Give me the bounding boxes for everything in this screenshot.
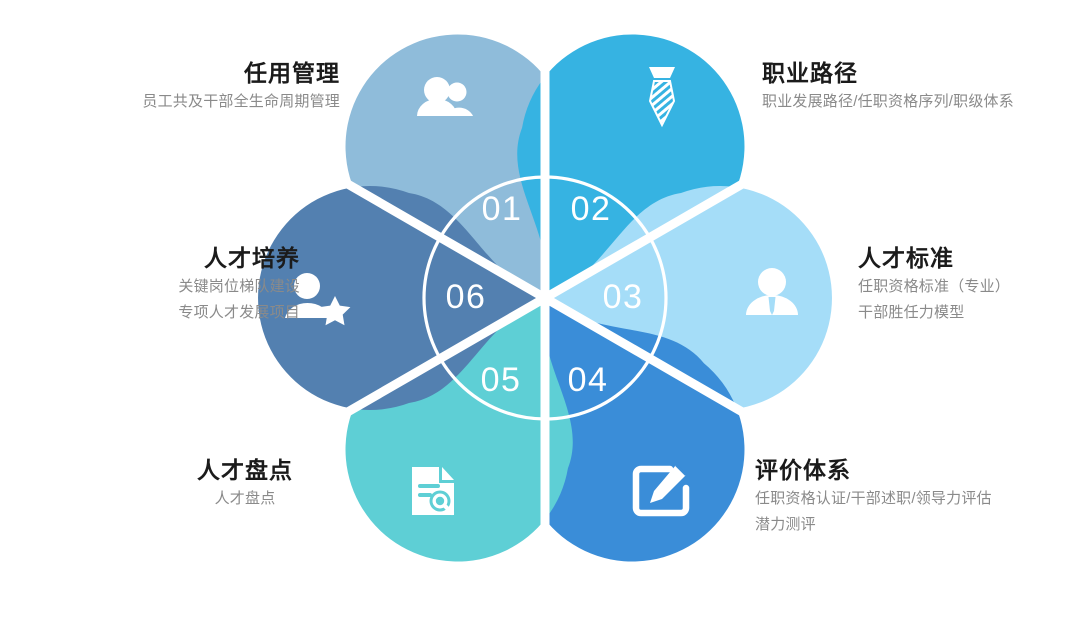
- label-block-06: 人才培养 关键岗位梯队建设 专项人才发展项目: [40, 243, 300, 327]
- label-sub-03-line2: 干部胜任力模型: [858, 300, 1078, 326]
- petal-number-04: 04: [568, 361, 609, 399]
- label-title-04: 评价体系: [755, 455, 1075, 486]
- label-sub-06-line1: 关键岗位梯队建设: [40, 274, 300, 300]
- label-block-01: 任用管理 员工共及干部全生命周期管理: [40, 58, 340, 115]
- label-sub-04-line1: 任职资格认证/干部述职/领导力评估: [755, 486, 1075, 512]
- label-block-04: 评价体系 任职资格认证/干部述职/领导力评估 潜力测评: [755, 455, 1075, 539]
- petal-number-02: 02: [571, 190, 612, 228]
- petal-number-03: 03: [603, 278, 644, 316]
- label-title-01: 任用管理: [40, 58, 340, 89]
- label-block-02: 职业路径 职业发展路径/任职资格序列/职级体系: [762, 58, 1072, 115]
- petal-number-05: 05: [481, 361, 522, 399]
- label-block-03: 人才标准 任职资格标准（专业） 干部胜任力模型: [858, 243, 1078, 327]
- label-title-06: 人才培养: [40, 243, 300, 274]
- label-title-02: 职业路径: [762, 58, 1072, 89]
- label-title-05: 人才盘点: [150, 455, 340, 486]
- label-sub-02-line1: 职业发展路径/任职资格序列/职级体系: [762, 89, 1072, 115]
- petal-number-06: 06: [446, 278, 487, 316]
- label-title-03: 人才标准: [858, 243, 1078, 274]
- label-sub-04-line2: 潜力测评: [755, 512, 1075, 538]
- infographic-canvas: 01 02 03 04 05 06: [0, 0, 1081, 626]
- label-sub-01-line1: 员工共及干部全生命周期管理: [40, 89, 340, 115]
- label-sub-05-line1: 人才盘点: [150, 486, 340, 512]
- label-block-05: 人才盘点 人才盘点: [150, 455, 340, 512]
- label-sub-06-line2: 专项人才发展项目: [40, 300, 300, 326]
- petal-number-01: 01: [482, 190, 523, 228]
- label-sub-03-line1: 任职资格标准（专业）: [858, 274, 1078, 300]
- document-search-icon: [412, 467, 454, 515]
